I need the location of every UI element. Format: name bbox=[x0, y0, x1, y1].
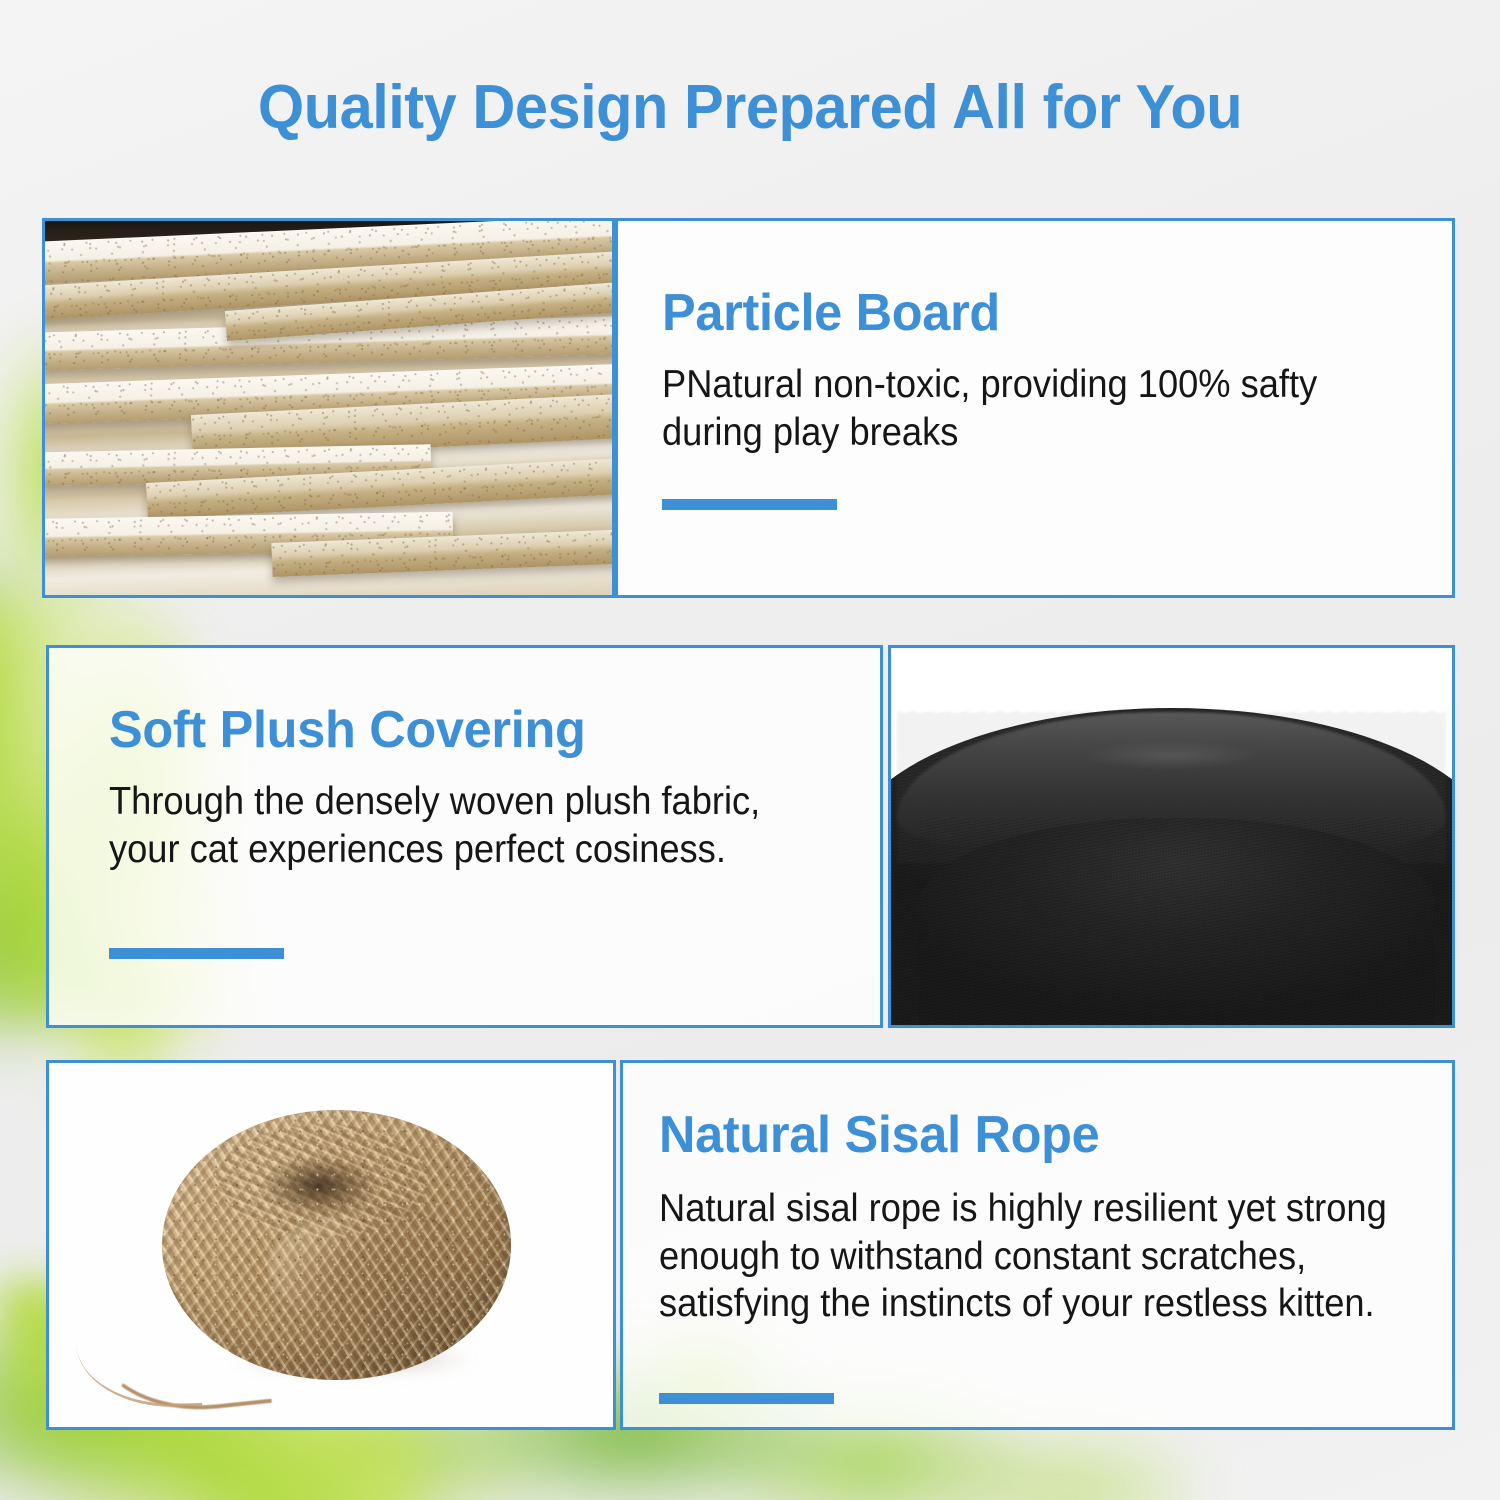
feature-heading: Soft Plush Covering bbox=[109, 700, 585, 760]
page-title: Quality Design Prepared All for You bbox=[30, 72, 1470, 143]
plush-bed-interior bbox=[919, 818, 1435, 1028]
accent-underline bbox=[659, 1393, 834, 1404]
feature-text-particle-board: Particle Board PNatural non-toxic, provi… bbox=[615, 218, 1455, 598]
sisal-rope-ball bbox=[162, 1110, 512, 1379]
feature-body: Through the densely woven plush fabric, … bbox=[109, 778, 797, 873]
feature-text-soft-plush-covering: Soft Plush Covering Through the densely … bbox=[46, 645, 883, 1028]
feature-heading: Particle Board bbox=[662, 283, 1000, 343]
plush-highlight bbox=[1048, 735, 1295, 776]
accent-underline bbox=[662, 499, 837, 510]
sisal-rope-photo bbox=[49, 1063, 613, 1427]
feature-image-soft-plush-covering bbox=[888, 645, 1455, 1028]
feature-heading: Natural Sisal Rope bbox=[659, 1105, 1099, 1165]
feature-body: PNatural non-toxic, providing 100% safty… bbox=[662, 361, 1406, 456]
feature-text-natural-sisal-rope: Natural Sisal Rope Natural sisal rope is… bbox=[620, 1060, 1455, 1430]
plush-bed-photo bbox=[891, 648, 1452, 1025]
infographic-page: Quality Design Prepared All for You Part… bbox=[0, 0, 1500, 1500]
feature-image-natural-sisal-rope bbox=[46, 1060, 616, 1430]
accent-underline bbox=[109, 948, 284, 959]
feature-image-particle-board bbox=[42, 218, 615, 598]
feature-body: Natural sisal rope is highly resilient y… bbox=[659, 1185, 1394, 1328]
particle-board-photo bbox=[45, 221, 612, 595]
